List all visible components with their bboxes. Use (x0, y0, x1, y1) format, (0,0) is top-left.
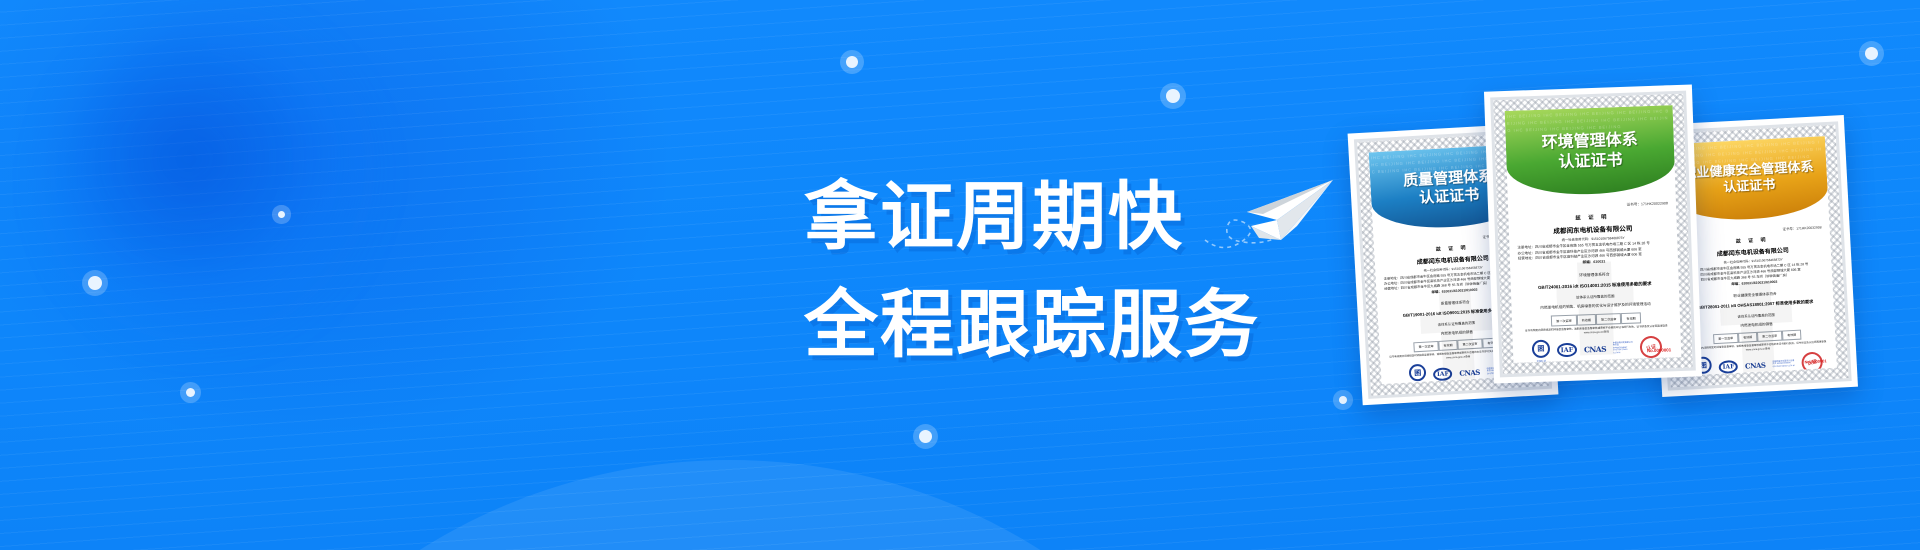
certificates-group: IHC BEIJING IHC BEIJING IHC BEIJING IHC … (1355, 88, 1920, 468)
certificate-audit-cell: 有效期 (1621, 312, 1641, 324)
certificate-audit-cell: 第一次监审 (1551, 314, 1577, 326)
circle-decoration-large (150, 460, 1310, 550)
certificate-no-value: 171HK20022908 (1641, 201, 1668, 206)
dot-decoration (846, 56, 858, 68)
dot-decoration (278, 211, 285, 218)
certificate-title-line-1: 环境管理体系 (1541, 129, 1638, 152)
iaf-logo-icon: IAF (1557, 343, 1577, 358)
cnas-caption: 中国合格评定国家认可委员会 MANAGEMENT SYSTEM CNAS C17… (1613, 341, 1633, 355)
certificate-audit-cell: 有效期 (1782, 330, 1802, 341)
cnas-caption: 中国合格评定国家认可委员会 MANAGEMENT SYSTEM CNAS C17… (1772, 360, 1794, 369)
cert-mark-glyph: 囷 (1409, 364, 1427, 382)
certificate-audit-cell: 第一次监审 (1713, 333, 1739, 344)
dot-decoration (1339, 396, 1347, 404)
certificate-serial-number: No.0000001 (1647, 347, 1671, 353)
certificate-audit-cell: 第一次监审 (1413, 341, 1439, 352)
cert-mark-glyph: 囷 (1532, 339, 1551, 358)
promo-banner: 拿证周期快 全程跟踪服务 IHC BEIJING IHC BEIJING IHC… (0, 0, 1920, 550)
certificate-no-value: 171HK20032908 (1796, 225, 1822, 230)
dot-decoration (88, 276, 102, 290)
dot-decoration (1865, 47, 1878, 60)
certificate-no-label: 证书号： (1783, 227, 1797, 232)
china-cert-mark-icon: 囷 中国认证 (1532, 339, 1551, 363)
china-cert-mark-icon: 囷 中国认证 (1409, 364, 1427, 384)
dot-decoration (1166, 89, 1180, 103)
certificate-title-line-2: 认证证书 (1542, 149, 1639, 172)
iaf-logo-icon: IAF (1719, 360, 1739, 374)
certificate-no-label: 证书号： (1627, 202, 1642, 206)
paper-plane-icon (1185, 168, 1335, 265)
dot-decoration (919, 430, 932, 443)
dot-decoration (186, 388, 195, 397)
environmental-management-certificate[interactable]: IHC BEIJING IHC BEIJING IHC BEIJING IHC … (1484, 84, 1702, 383)
dark-blue-glow-decoration (50, 20, 380, 350)
headline-line-2: 全程跟踪服务 (804, 271, 1260, 379)
